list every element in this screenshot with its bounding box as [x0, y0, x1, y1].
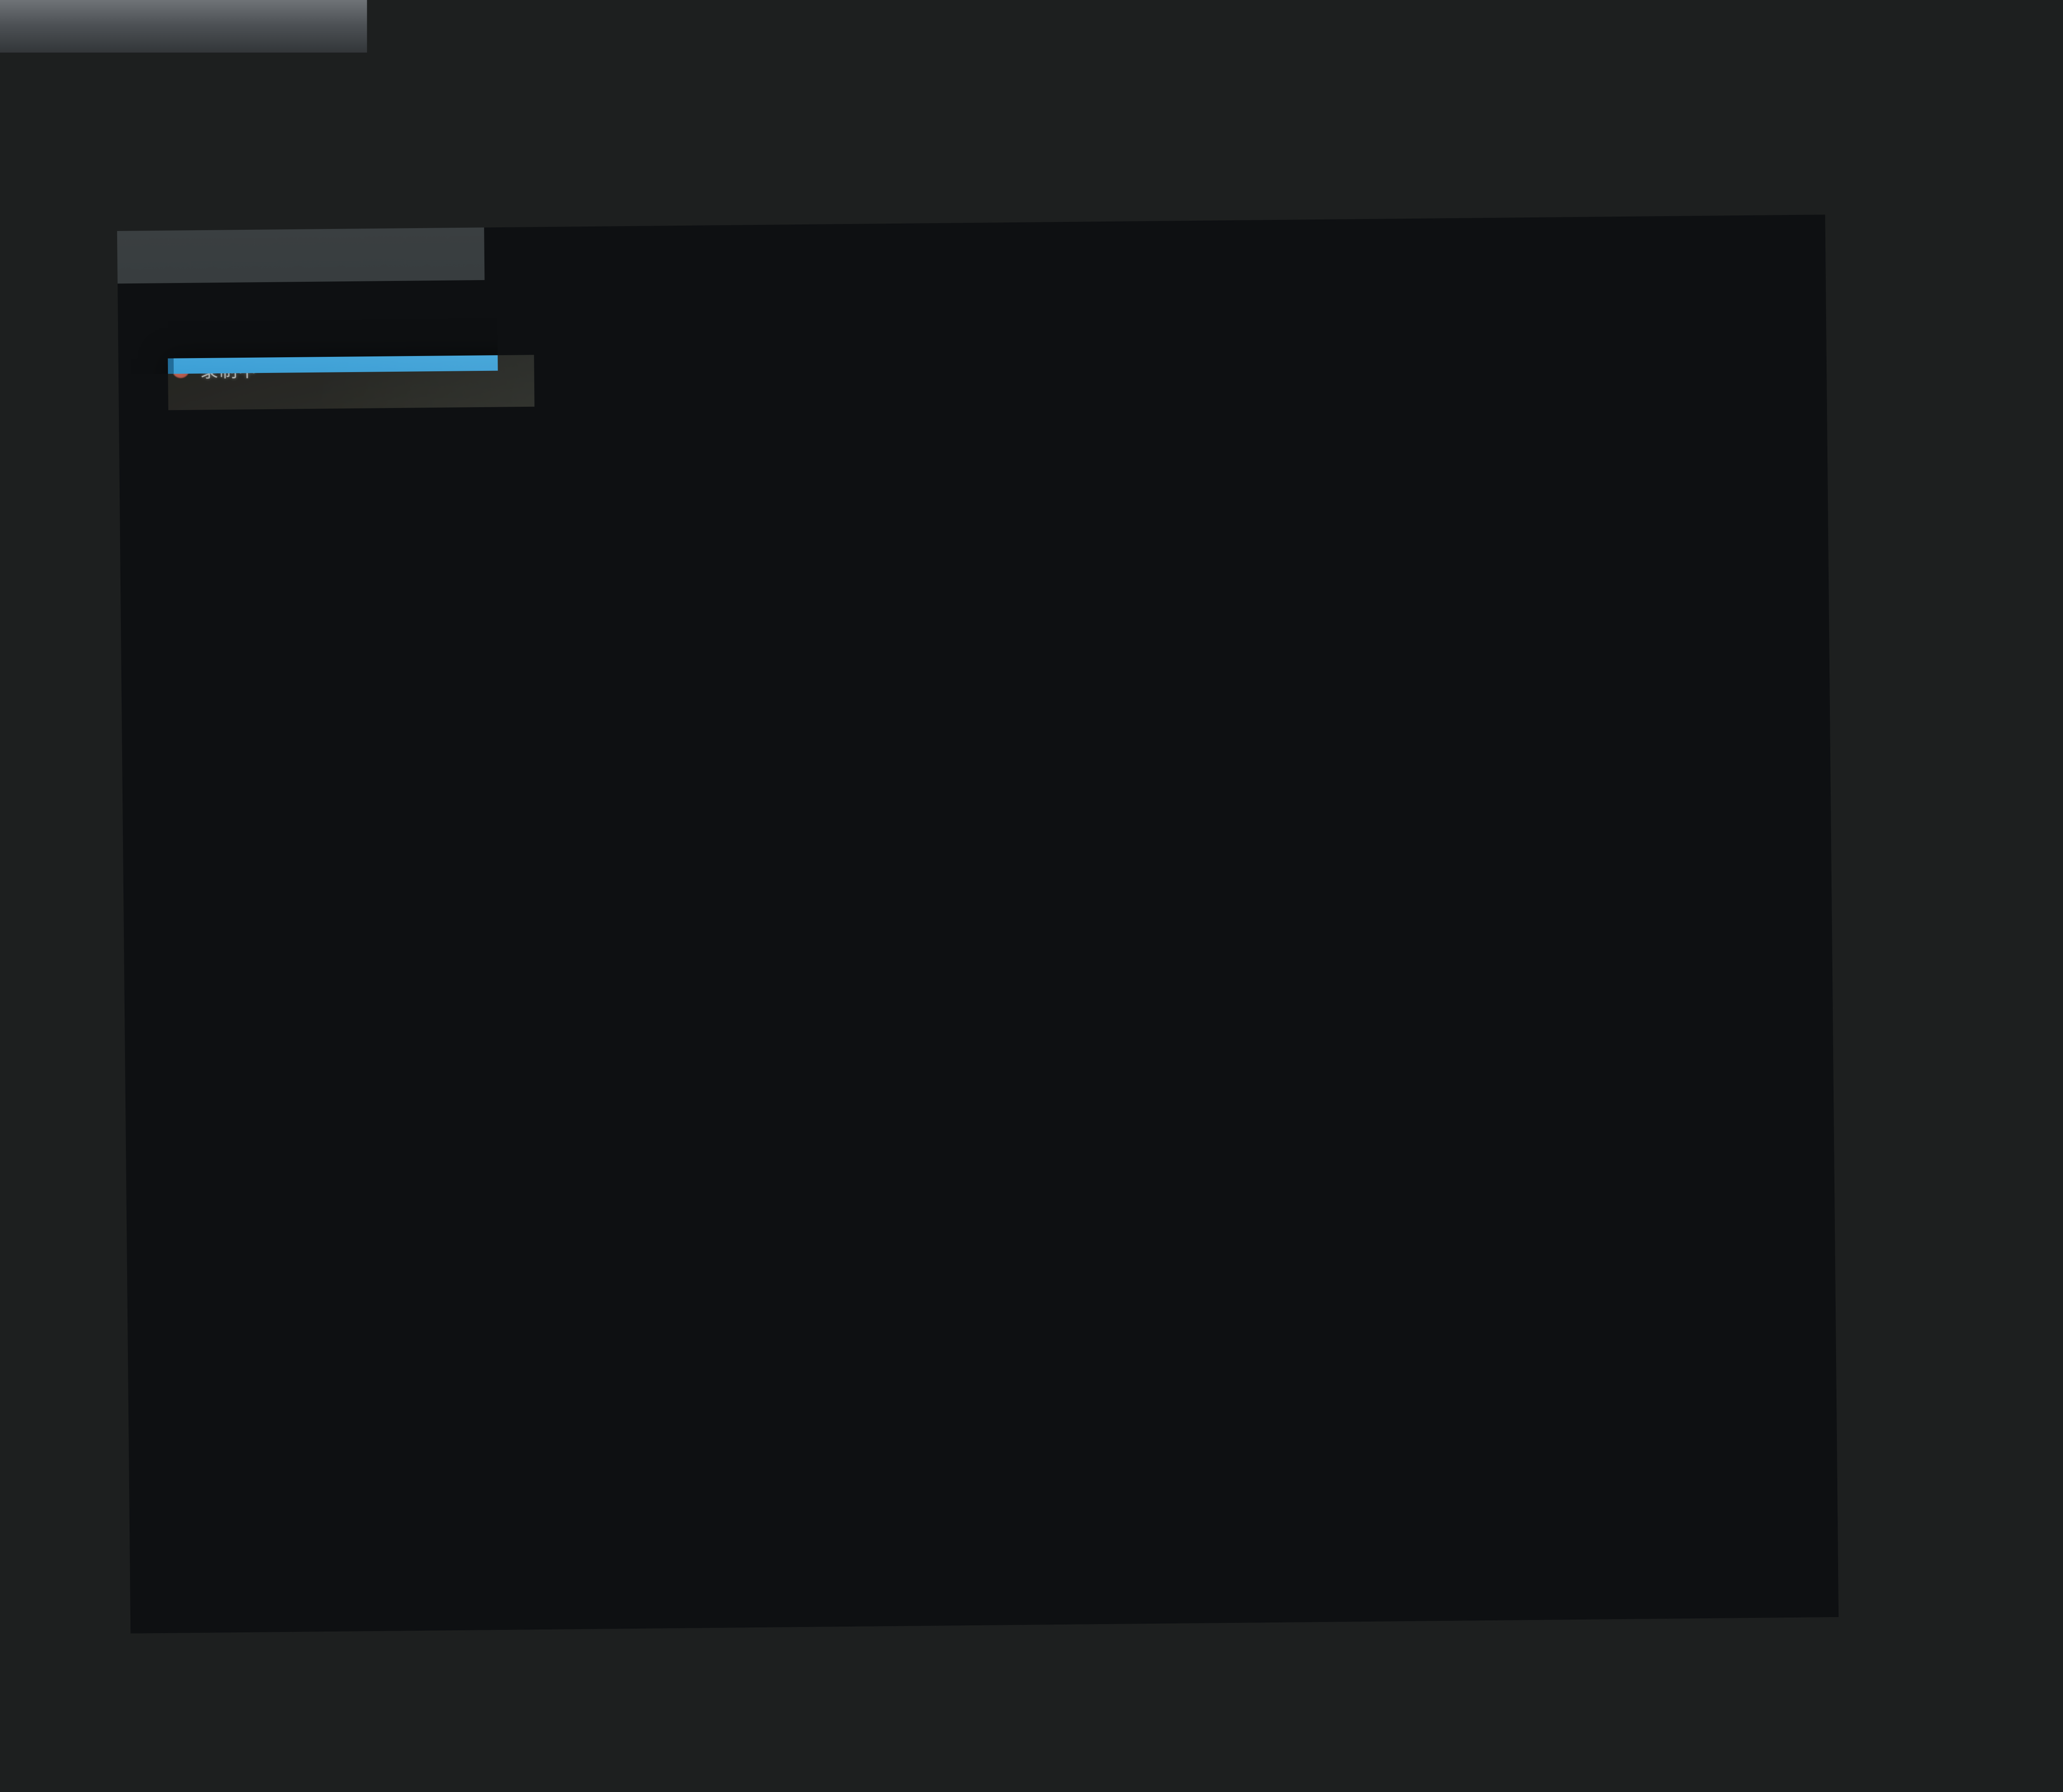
card-subtitle: 高水平专业群建设的基石: [1128, 481, 1474, 528]
list-item: 产教融合平台建设要拓展新路径: [1010, 1168, 1711, 1205]
list-item: 精技善教、行业顶尖的高技艺“工匠之师”: [242, 1174, 943, 1211]
key-points-grid: 重标准： 高水平专业群建设的核心 树立标准化办学的强烈意识，做标准办学的示范者 …: [214, 459, 1734, 1460]
presentation-slide: 一、高职高水平专业群建设的四个关键 金华职业技术学院 JINHUA POLYTE…: [168, 343, 1780, 1547]
card-standards: 重标准： 高水平专业群建设的核心 树立标准化办学的强烈意识，做标准办学的示范者 …: [214, 466, 961, 953]
card-bullet-list: “1+X”证书制度是重大制度设计，成为落实“1+X”制度的主力军 在基本学制基础…: [1004, 552, 1706, 731]
header-accent-bar: [168, 358, 175, 441]
bullet-highlight: 先行者: [676, 672, 742, 698]
card-heading-rule: [241, 1047, 942, 1058]
monitor-icon: [117, 1609, 144, 1632]
bullet-dot-icon: [241, 1078, 253, 1092]
card-keyword: 重标准：: [236, 491, 361, 537]
bullet-dot-icon: [1009, 1140, 1022, 1155]
projector-room-photo: 录制中 一、高职高水平专业群建设的四个关键 金华职业技术学院 JINHUA PO…: [0, 0, 2063, 1792]
card-heading-rule: [1003, 533, 1704, 545]
bullet-highlight: 高端性: [1273, 1134, 1339, 1159]
projection-screen: 录制中 一、高职高水平专业群建设的四个关键 金华职业技术学院 JINHUA PO…: [117, 215, 1839, 1634]
list-item: 积极参与国家（行业）标准开发，做一流标准的制定者: [237, 614, 938, 651]
bullet-highlight: 拓荒者: [1444, 698, 1510, 724]
bullet-text: 率先开展标准的国际化，做中国标准输出的: [260, 673, 676, 702]
school-motto: 兼容并蓄 经世致用: [216, 1503, 433, 1534]
ceiling-seam: [0, 62, 2063, 68]
bullet-text: 产教融合平台建设要拓展: [1033, 1175, 1274, 1202]
camera-timestamp: 2022.5.9 19:26: [1975, 1700, 2063, 1746]
bullet-highlight: 共同体: [1274, 1214, 1340, 1240]
bullet-text: 产教融合平台建设要体现: [1032, 1134, 1273, 1162]
bullet-text: 精技善教、行业顶尖的: [265, 1181, 484, 1207]
card-heading: 重标准： 高水平专业群建设的核心: [236, 486, 937, 537]
card-system: 重制度： 高水平专业群建设的基石 “1+X”证书制度是重大制度设计，成为落实“1…: [982, 459, 1729, 946]
ceiling-light: [1527, 0, 1898, 50]
bullet-dot-icon: [1010, 1181, 1022, 1195]
list-item: 专业化、结构化的高水平双师教学创新团队: [241, 1065, 942, 1102]
slide-header: 一、高职高水平专业群建设的四个关键 金华职业技术学院 JINHUA POLYTE…: [168, 343, 1770, 441]
list-item: “1+X”证书制度是重大制度设计，成为落实“1+X”制度的主力军: [1004, 552, 1705, 589]
room-wall-right: [1807, 78, 2063, 1563]
card-platform: 重平台： 高水平专业群建设的路径 高水平专业群建设更加关注产教融合的深度和广度，…: [987, 965, 1734, 1452]
list-item: 在基本学制基础上，实行弹性学习制度，成为学分制基础上的学籍管理、教学管理等制度创…: [1004, 592, 1705, 660]
bullet-text: “1+X”证书制度是重大制度设计，成为落实“1+X”制度的: [1027, 556, 1582, 586]
bullet-highlight: 高技艺“工匠之师”: [484, 1179, 666, 1205]
bullet-dot-icon: [1004, 605, 1017, 620]
school-logo-text: 金华职业技术学院 JINHUA POLYTECHNIC: [1546, 366, 1744, 406]
bullet-dot-icon: [236, 572, 249, 587]
bullet-text: 积极参与国家（行业）标准开发，做一流标准的: [260, 618, 720, 648]
card-heading: 重制度： 高水平专业群建设的基石: [1003, 479, 1704, 529]
list-item: 率先开展标准的国际化，做中国标准输出的先行者: [237, 668, 938, 705]
bullet-text: 专业化、结构化的: [264, 1073, 439, 1099]
card-heading-rule: [236, 541, 937, 552]
bullet-highlight: 高层次专业带头人队伍: [440, 1125, 659, 1151]
card-bullet-list: 产教融合平台建设要体现高端性 产教融合平台建设要拓展新路径 产教融合平台建设要形…: [1009, 1128, 1711, 1246]
card-lead-paragraph: 高水平专业群建设更加关注产教融合的深度和广度，力争将产教融合平台建设推向一个新高…: [1008, 1052, 1709, 1120]
card-heading-rule: [1008, 1039, 1709, 1050]
card-keyword: 重队伍：: [241, 997, 366, 1042]
bullet-text: 树立标准化办学的强烈意识，做标准办学的: [260, 564, 675, 593]
list-item: 产教融合平台建设要体现高端性: [1009, 1128, 1710, 1165]
school-name-cn: 金华职业技术学院: [1546, 366, 1744, 391]
bullet-text: 专家型、领军式的: [265, 1127, 440, 1153]
card-team: 重队伍： 高水平专业群建设的关键 专业化、结构化的高水平双师教学创新团队 专家型…: [219, 972, 966, 1459]
list-item: 树立标准化办学的强烈意识，做标准办学的示范者: [236, 559, 937, 597]
bullet-dot-icon: [242, 1186, 255, 1201]
bullet-dot-icon: [1005, 676, 1017, 691]
bullet-dot-icon: [242, 1132, 254, 1147]
screen-share-bar[interactable]: 成军的屏幕共享: [103, 1592, 446, 1647]
card-subtitle: 高水平专业群建设的核心: [361, 488, 706, 535]
bullet-dot-icon: [1004, 564, 1016, 579]
bullet-text: 围绕组建成群、组织架构、课程体系、教师团队、教学资源等要素，探索专业群治理模式，…: [1028, 666, 1684, 727]
card-bullet-list: 专业化、结构化的高水平双师教学创新团队 专家型、领军式的高层次专业带头人队伍 精…: [241, 1065, 943, 1211]
card-heading: 重队伍： 高水平专业群建设的关键: [241, 992, 942, 1042]
card-heading: 重平台： 高水平专业群建设的路径: [1008, 984, 1709, 1035]
card-subtitle: 高水平专业群建设的关键: [366, 994, 711, 1041]
list-item: 专家型、领军式的高层次专业带头人队伍: [242, 1120, 943, 1157]
bullet-highlight: 引领者: [1290, 629, 1356, 654]
list-item: 产教融合平台建设要形成共同体: [1010, 1208, 1711, 1245]
bullet-highlight: 制定者: [719, 618, 785, 643]
bullet-highlight: 主力军: [1582, 555, 1648, 580]
download-arrow-icon: [154, 1608, 175, 1632]
bullet-dot-icon: [237, 681, 250, 696]
school-name-en: JINHUA POLYTECHNIC: [1546, 393, 1744, 406]
bullet-highlight: 高水平双师教学创新团队: [439, 1070, 680, 1097]
card-keyword: 重制度：: [1003, 484, 1129, 529]
bullet-highlight: 示范者: [675, 564, 741, 589]
list-item: 围绕组建成群、组织架构、课程体系、教师团队、教学资源等要素，探索专业群治理模式，…: [1005, 663, 1706, 731]
school-logo: 金华职业技术学院 JINHUA POLYTECHNIC: [1487, 351, 1745, 421]
bullet-dot-icon: [1010, 1221, 1022, 1236]
school-emblem-icon: [1487, 358, 1537, 416]
card-keyword: 重平台：: [1008, 990, 1134, 1035]
slide-title: 一、高职高水平专业群建设的四个关键: [217, 361, 1010, 430]
bullet-text: 产教融合平台建设要形成: [1033, 1215, 1274, 1243]
slide-page-number: 5: [1730, 1495, 1742, 1516]
card-bullet-list: 树立标准化办学的强烈意识，做标准办学的示范者 积极参与国家（行业）标准开发，做一…: [236, 559, 938, 705]
card-subtitle: 高水平专业群建设的路径: [1133, 986, 1479, 1034]
bullet-highlight: 新路径: [1273, 1174, 1339, 1200]
bullet-dot-icon: [237, 626, 249, 641]
screen-share-label: 成军的屏幕共享: [186, 1602, 362, 1638]
